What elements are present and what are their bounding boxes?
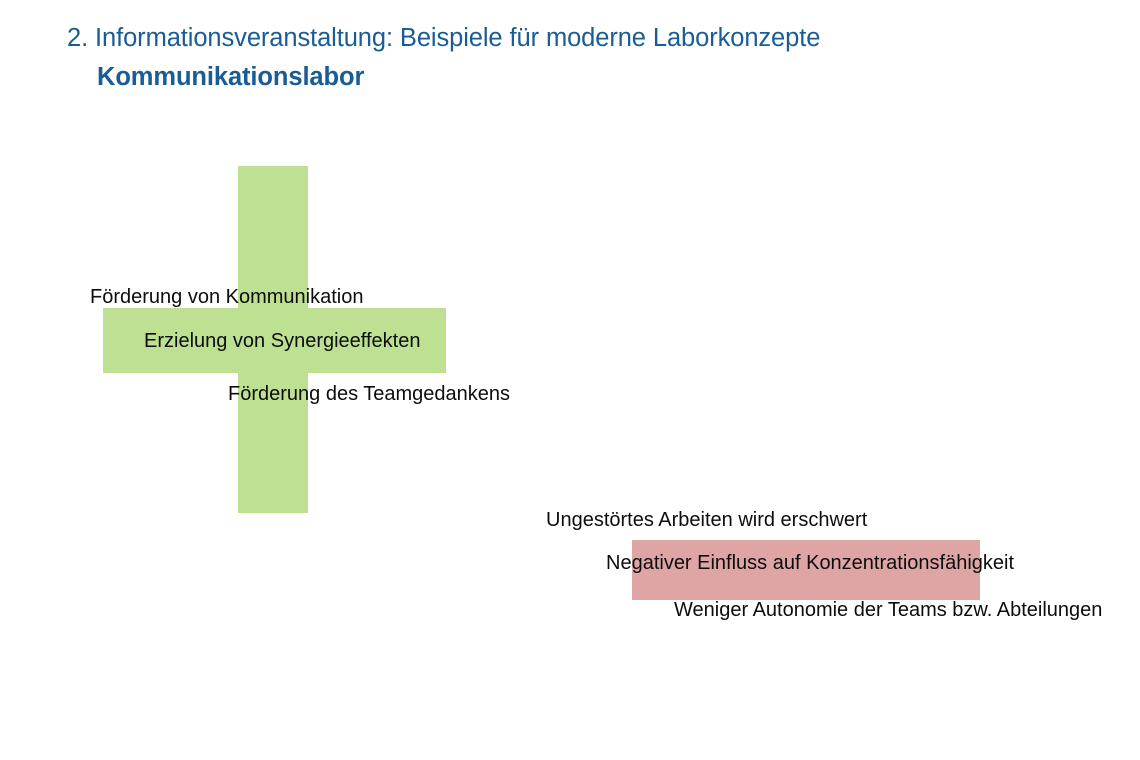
- negative-caption-1: Ungestörtes Arbeiten wird erschwert: [546, 508, 867, 532]
- slide-canvas: 2. Informationsveranstaltung: Beispiele …: [0, 0, 1140, 760]
- positive-caption-1: Förderung von Kommunikation: [90, 285, 363, 309]
- heading-line-1: 2. Informationsveranstaltung: Beispiele …: [67, 24, 820, 53]
- positive-caption-2: Erzielung von Synergieeffekten: [144, 329, 420, 353]
- positive-caption-3: Förderung des Teamgedankens: [228, 382, 510, 406]
- negative-caption-3: Weniger Autonomie der Teams bzw. Abteilu…: [674, 598, 1102, 622]
- negative-caption-2: Negativer Einfluss auf Konzentrationsfäh…: [606, 551, 1014, 575]
- heading-line-2: Kommunikationslabor: [97, 63, 364, 92]
